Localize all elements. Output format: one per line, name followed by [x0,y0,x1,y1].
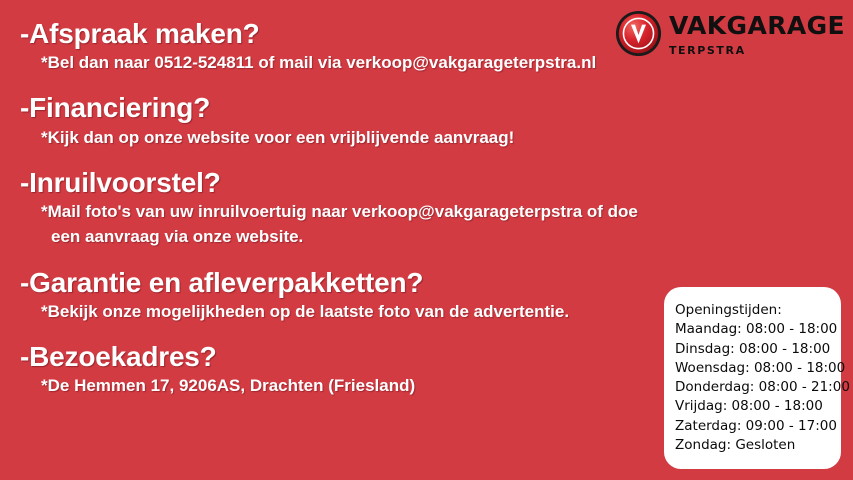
advertisement-canvas: VAKGARAGE Terpstra -Afspraak maken? *Bel… [0,0,853,480]
section-heading: -Inruilvoorstel? [20,167,680,198]
opening-hours-row-maandag: Maandag: 08:00 - 18:00 [675,320,841,339]
brand-wordmark: VAKGARAGE Terpstra [669,11,845,57]
section-body-line-continued: een aanvraag via onze website. [51,225,680,248]
section-body-line: *De Hemmen 17, 9206AS, Drachten (Friesla… [41,374,680,397]
brand-title: VAKGARAGE [669,13,845,38]
section-body-line: *Mail foto's van uw inruilvoertuig naar … [41,200,680,223]
opening-hours-row-zondag: Zondag: Gesloten [675,436,841,455]
opening-hours-row-dinsdag: Dinsdag: 08:00 - 18:00 [675,340,841,359]
section-body-line: *Kijk dan op onze website voor een vrijb… [41,126,680,149]
opening-hours-card: Openingstijden: Maandag: 08:00 - 18:00 D… [664,287,841,469]
section-bezoekadres: -Bezoekadres? *De Hemmen 17, 9206AS, Dra… [0,341,680,397]
section-afspraak-maken: -Afspraak maken? *Bel dan naar 0512-5248… [0,18,680,74]
opening-hours-row-donderdag: Donderdag: 08:00 - 21:00 [675,378,841,397]
section-inruilvoorstel: -Inruilvoorstel? *Mail foto's van uw inr… [0,167,680,249]
section-heading: -Afspraak maken? [20,18,680,49]
section-garantie-en-afleverpakketten: -Garantie en afleverpakketten? *Bekijk o… [0,267,680,323]
section-financiering: -Financiering? *Kijk dan op onze website… [0,92,680,148]
info-sections: -Afspraak maken? *Bel dan naar 0512-5248… [0,18,680,397]
section-heading: -Bezoekadres? [20,341,680,372]
opening-hours-row-vrijdag: Vrijdag: 08:00 - 18:00 [675,397,841,416]
brand-subtitle: Terpstra [669,41,845,57]
opening-hours-row-zaterdag: Zaterdag: 09:00 - 17:00 [675,417,841,436]
section-body-line: *Bel dan naar 0512-524811 of mail via ve… [41,51,680,74]
opening-hours-title: Openingstijden: [675,301,841,320]
opening-hours-row-woensdag: Woensdag: 08:00 - 18:00 [675,359,841,378]
section-heading: -Financiering? [20,92,680,123]
section-body-line: *Bekijk onze mogelijkheden op de laatste… [41,300,680,323]
section-heading: -Garantie en afleverpakketten? [20,267,680,298]
